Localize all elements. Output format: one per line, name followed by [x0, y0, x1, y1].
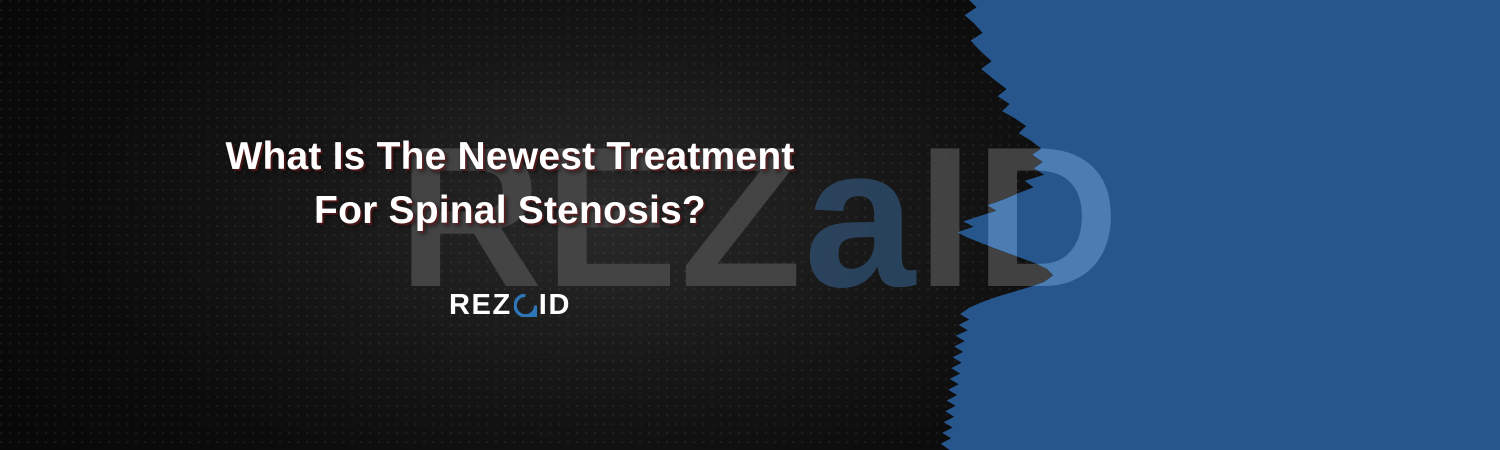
- logo-prefix: REZ: [449, 291, 512, 320]
- logo-suffix: ID: [539, 291, 571, 320]
- page-title: What Is The Newest Treatment For Spinal …: [225, 130, 794, 238]
- headline-line-1: What Is The Newest Treatment: [225, 130, 794, 184]
- logo-a-mark-icon: [514, 294, 537, 317]
- rezaid-logo[interactable]: REZ ID: [449, 291, 571, 320]
- article-hero-banner: REZaID REZaID What Is The Newest Treatme…: [0, 0, 1500, 450]
- headline-line-2: For Spinal Stenosis?: [225, 184, 794, 238]
- banner-content: What Is The Newest Treatment For Spinal …: [0, 0, 1500, 450]
